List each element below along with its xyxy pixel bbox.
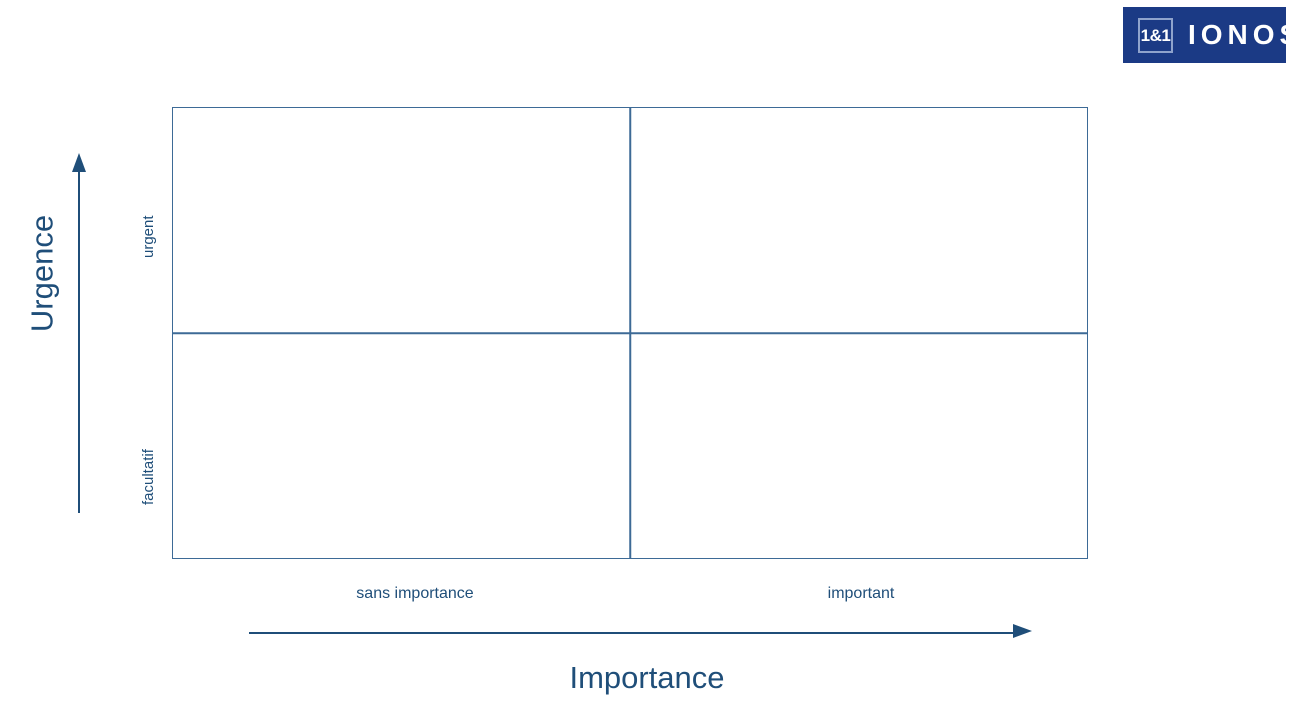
quadrant-top-right[interactable] <box>630 108 1087 333</box>
ionos-logo-wordmark: IONOS <box>1188 21 1294 49</box>
x-axis-title: Importance <box>0 662 1294 693</box>
matrix-horizontal-divider <box>173 332 1087 334</box>
x-axis-tick-important: important <box>749 586 973 602</box>
x-axis-arrow-icon <box>1013 624 1032 638</box>
ionos-logo-mark: 1&1 <box>1138 18 1173 53</box>
eisenhower-matrix <box>172 107 1088 559</box>
x-axis-tick-sans-importance: sans importance <box>303 586 527 602</box>
quadrant-bottom-left[interactable] <box>173 333 630 558</box>
y-axis-tick-urgent: urgent <box>141 215 156 258</box>
quadrant-top-left[interactable] <box>173 108 630 333</box>
quadrant-bottom-right[interactable] <box>630 333 1087 558</box>
y-axis-line <box>78 170 80 513</box>
ionos-logo: 1&1 IONOS <box>1123 7 1286 63</box>
y-axis-title: Urgence <box>27 194 58 354</box>
y-axis-tick-facultatif: facultatif <box>141 449 156 505</box>
x-axis-line <box>249 632 1021 634</box>
